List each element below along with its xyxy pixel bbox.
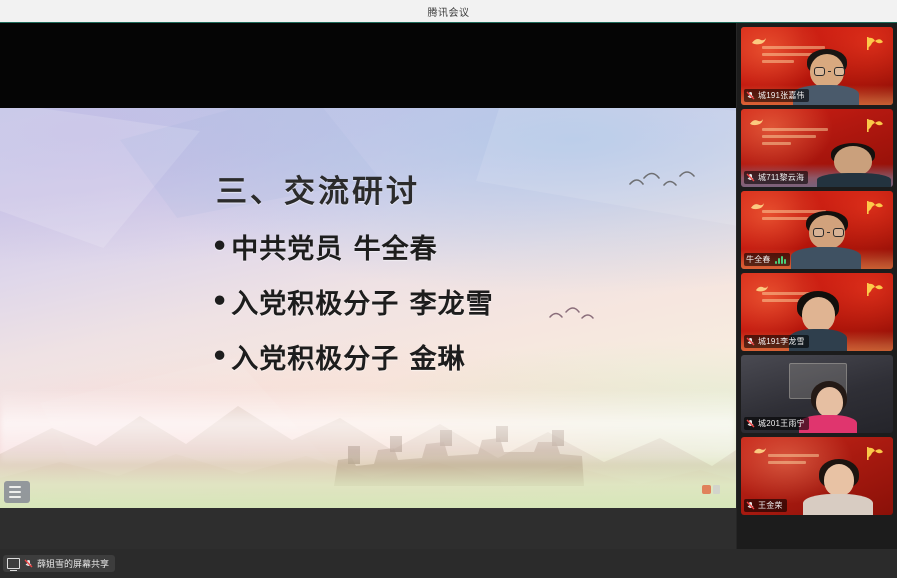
app-title: 腾讯会议: [428, 4, 470, 19]
slide-bullet-0: •中共党员 牛全春: [211, 227, 438, 266]
participant-filmstrip[interactable]: 城191张嘉伟 城711黎云: [737, 23, 897, 549]
participant-name-label-3: 城191李龙雪: [744, 335, 809, 348]
participant-name-label-1: 城711黎云海: [744, 171, 808, 184]
party-emblem-icon: [864, 115, 886, 135]
screen-share-status[interactable]: 薛姐雪的屏幕共享: [3, 555, 115, 572]
slide-bullet-text: 入党积极分子 李龙雪: [231, 289, 493, 320]
dove-icon: [755, 283, 769, 293]
slide-title: 三、交流研讨: [216, 166, 420, 211]
title-bar: 腾讯会议: [0, 0, 897, 23]
participant-name-label-2: 牛全春: [744, 253, 790, 266]
participant-tile-3[interactable]: 城191李龙雪: [741, 273, 893, 351]
participant-tile-1[interactable]: 城711黎云海: [741, 109, 893, 187]
mic-muted-icon: [746, 91, 755, 100]
participant-name-label-5: 王金荣: [744, 499, 787, 512]
participant-tile-2[interactable]: 牛全春: [741, 191, 893, 269]
bullet-marker: •: [211, 341, 229, 372]
participant-name-1: 城711黎云海: [758, 172, 804, 183]
mic-muted-icon: [746, 419, 755, 428]
bottom-bar: 薛姐雪的屏幕共享: [0, 549, 897, 578]
wps-logo-icon: [702, 482, 724, 496]
slide-bullet-1: •入党积极分子 李龙雪: [211, 282, 494, 321]
participant-tile-5[interactable]: 王金荣: [741, 437, 893, 515]
party-emblem-icon: [864, 33, 886, 53]
participant-name-label-0: 城191张嘉伟: [744, 89, 809, 102]
dove-icon: [751, 35, 767, 46]
letterbox-bottom: [0, 508, 736, 549]
participant-name-4: 城201王雨宁: [758, 418, 805, 429]
dove-icon: [749, 116, 764, 127]
participant-name-2: 牛全春: [746, 254, 771, 265]
slide-bullet-text: 入党积极分子 金琳: [231, 344, 465, 375]
tencent-meeting-window: 腾讯会议: [0, 0, 897, 578]
letterbox-top: [0, 23, 736, 108]
mic-muted-icon: [746, 337, 755, 346]
participant-video-1: [815, 143, 893, 187]
party-emblem-icon: [864, 197, 886, 217]
dove-icon: [753, 445, 767, 455]
dove-icon: [750, 200, 765, 211]
slide-text-layer: 三、交流研讨 •中共党员 牛全春 •入党积极分子 李龙雪 •入党积极分子 金琳: [0, 108, 736, 508]
screen-share-icon: [7, 558, 20, 569]
party-emblem-icon: [864, 279, 886, 299]
participant-video-5: [803, 459, 873, 515]
participant-name-5: 王金荣: [758, 500, 783, 511]
bullet-marker: •: [211, 231, 229, 262]
slide-bullet-2: •入党积极分子 金琳: [211, 337, 466, 376]
screen-share-label: 薛姐雪的屏幕共享: [37, 557, 109, 570]
participant-tile-4[interactable]: 城201王雨宁: [741, 355, 893, 433]
shared-screen-stage[interactable]: 三、交流研讨 •中共党员 牛全春 •入党积极分子 李龙雪 •入党积极分子 金琳: [0, 23, 736, 549]
presentation-slide: 三、交流研讨 •中共党员 牛全春 •入党积极分子 李龙雪 •入党积极分子 金琳: [0, 108, 736, 508]
slide-bullet-text: 中共党员 牛全春: [231, 234, 437, 265]
participant-name-0: 城191张嘉伟: [758, 90, 805, 101]
mic-muted-icon: [24, 559, 33, 568]
bullet-marker: •: [211, 286, 229, 317]
participant-name-label-4: 城201王雨宁: [744, 417, 809, 430]
mic-muted-icon: [746, 501, 755, 510]
participant-tile-0[interactable]: 城191张嘉伟: [741, 27, 893, 105]
audio-level-icon: [775, 256, 786, 264]
participant-name-3: 城191李龙雪: [758, 336, 805, 347]
mic-muted-icon: [746, 173, 755, 182]
slideshow-menu-icon[interactable]: [4, 481, 30, 503]
participant-video-2: [791, 211, 861, 269]
